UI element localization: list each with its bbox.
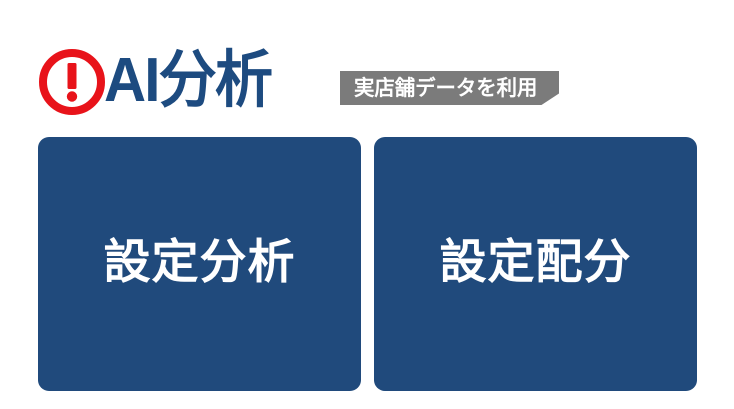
header: AI分析 実店舗データを利用: [38, 44, 698, 118]
card-setting-allocation-label: 設定配分: [440, 238, 632, 285]
card-group: 設定分析 設定配分: [38, 137, 697, 391]
status-badge: 実店舗データを利用: [340, 71, 559, 105]
page-title: AI分析: [104, 44, 271, 118]
exclamation-circle-icon: [38, 48, 106, 116]
status-badge-label: 実店舗データを利用: [354, 78, 537, 99]
card-setting-allocation[interactable]: 設定配分: [374, 137, 697, 391]
app-root: AI分析 実店舗データを利用 設定分析 設定配分: [0, 0, 734, 409]
card-setting-analysis[interactable]: 設定分析: [38, 137, 361, 391]
card-setting-analysis-label: 設定分析: [104, 238, 296, 285]
